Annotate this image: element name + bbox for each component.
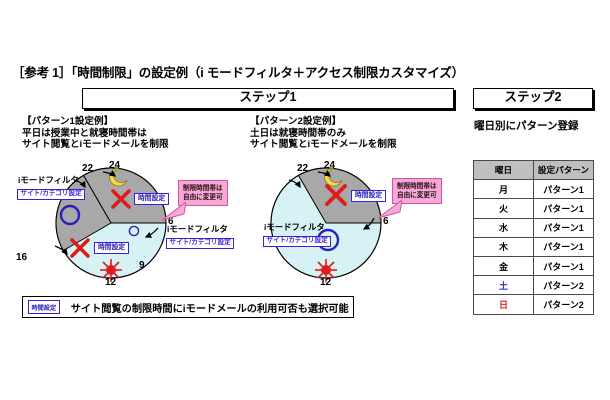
clock1-number-9: 9 <box>139 260 145 271</box>
pattern1-filter-label-bottom: iモードフィルタ <box>167 225 228 233</box>
note-time-badge: 時間設定 <box>28 300 60 314</box>
table-row[interactable]: 日 パターン2 <box>474 295 594 314</box>
table-row[interactable]: 水 パターン1 <box>474 218 594 237</box>
pattern1-caption-line1: 【パターン1設定例】 <box>22 116 169 128</box>
pattern1-time-badge-class[interactable]: 時間設定 <box>94 242 129 254</box>
table-row[interactable]: 土 パターン2 <box>474 276 594 295</box>
table-row[interactable]: 月 パターン1 <box>474 180 594 199</box>
note-text: サイト閲覧の制限時間にiモードメールの利用可否も選択可能 <box>71 300 349 315</box>
pattern1-callout-line1: 制限時間帯は <box>183 184 223 193</box>
table-row[interactable]: 火 パターン1 <box>474 199 594 218</box>
clock1-number-22: 22 <box>82 163 93 174</box>
table-cell-pattern: パターン1 <box>534 256 594 275</box>
table-cell-day: 金 <box>474 256 534 275</box>
table-cell-pattern: パターン1 <box>534 199 594 218</box>
table-cell-pattern: パターン2 <box>534 295 594 314</box>
weekday-pattern-table: 曜日 設定パターン 月 パターン1 火 パターン1 水 パターン1 木 パターン… <box>473 160 594 315</box>
table-header-day: 曜日 <box>474 161 534 180</box>
pattern1-caption-line2: 平日は授業中と就寝時間帯は <box>22 128 169 140</box>
bottom-note: 時間設定 サイト閲覧の制限時間にiモードメールの利用可否も選択可能 <box>22 296 354 318</box>
pattern2-callout-tail <box>376 198 402 220</box>
pattern2-caption-line1: 【パターン2設定例】 <box>250 116 397 128</box>
pattern1-filter-label-top: iモードフィルタ <box>18 176 79 184</box>
table-row[interactable]: 金 パターン1 <box>474 256 594 275</box>
table-cell-pattern: パターン1 <box>534 218 594 237</box>
pattern2-filter-label: iモードフィルタ <box>264 223 325 231</box>
table-cell-pattern: パターン1 <box>534 237 594 256</box>
pattern2-caption-line2: 土日は就寝時間帯のみ <box>250 128 397 140</box>
clock1-number-24: 24 <box>109 160 120 171</box>
pattern1-callout-tail <box>160 200 186 222</box>
pattern1-clock-diagram: 22 24 6 9 12 16 iモードフィルタ サイト/カテゴリ設定 iモード… <box>8 160 238 285</box>
step2-subtitle: 曜日別にパターン登録 <box>474 118 578 133</box>
pattern1-filter-box-top: サイト/カテゴリ設定 <box>17 189 85 200</box>
table-header-pattern: 設定パターン <box>534 161 594 180</box>
step2-header: ステップ2 <box>473 88 593 109</box>
clock2-number-24: 24 <box>324 160 335 171</box>
pattern2-caption: 【パターン2設定例】 土日は就寝時間帯のみ サイト閲覧とiモードメールを制限 <box>250 116 397 151</box>
pattern1-filter-box-bottom: サイト/カテゴリ設定 <box>166 238 234 249</box>
table-cell-day: 日 <box>474 295 534 314</box>
page-title: ［参考 1］「時間制限」の設定例（i モードフィルタ＋アクセス制限カスタマイズ） <box>12 62 464 81</box>
clock1-number-16: 16 <box>16 252 27 263</box>
clock2-number-22: 22 <box>297 163 308 174</box>
clock2-number-12: 12 <box>320 277 331 288</box>
pattern2-callout-line1: 制限時間帯は <box>397 182 437 191</box>
table-cell-pattern: パターン1 <box>534 180 594 199</box>
table-cell-day: 木 <box>474 237 534 256</box>
table-body: 月 パターン1 火 パターン1 水 パターン1 木 パターン1 金 パターン1 … <box>474 180 594 314</box>
table-row[interactable]: 木 パターン1 <box>474 237 594 256</box>
pattern1-caption-line3: サイト閲覧とiモードメールを制限 <box>22 139 169 151</box>
table-cell-pattern: パターン2 <box>534 276 594 295</box>
diagram-page: ［参考 1］「時間制限」の設定例（i モードフィルタ＋アクセス制限カスタマイズ）… <box>0 0 610 400</box>
table-cell-day: 月 <box>474 180 534 199</box>
table-cell-day: 火 <box>474 199 534 218</box>
pattern1-callout-line2: 自由に変更可 <box>183 193 223 202</box>
pattern2-callout-line2: 自由に変更可 <box>397 191 437 200</box>
table-cell-day: 水 <box>474 218 534 237</box>
pattern2-filter-box: サイト/カテゴリ設定 <box>263 236 331 247</box>
pattern1-caption: 【パターン1設定例】 平日は授業中と就寝時間帯は サイト閲覧とiモードメールを制… <box>22 116 169 151</box>
table-header-row: 曜日 設定パターン <box>474 161 594 180</box>
pattern2-caption-line3: サイト閲覧とiモードメールを制限 <box>250 139 397 151</box>
clock1-number-12: 12 <box>105 277 116 288</box>
table-cell-day: 土 <box>474 276 534 295</box>
step1-header: ステップ1 <box>82 88 454 109</box>
